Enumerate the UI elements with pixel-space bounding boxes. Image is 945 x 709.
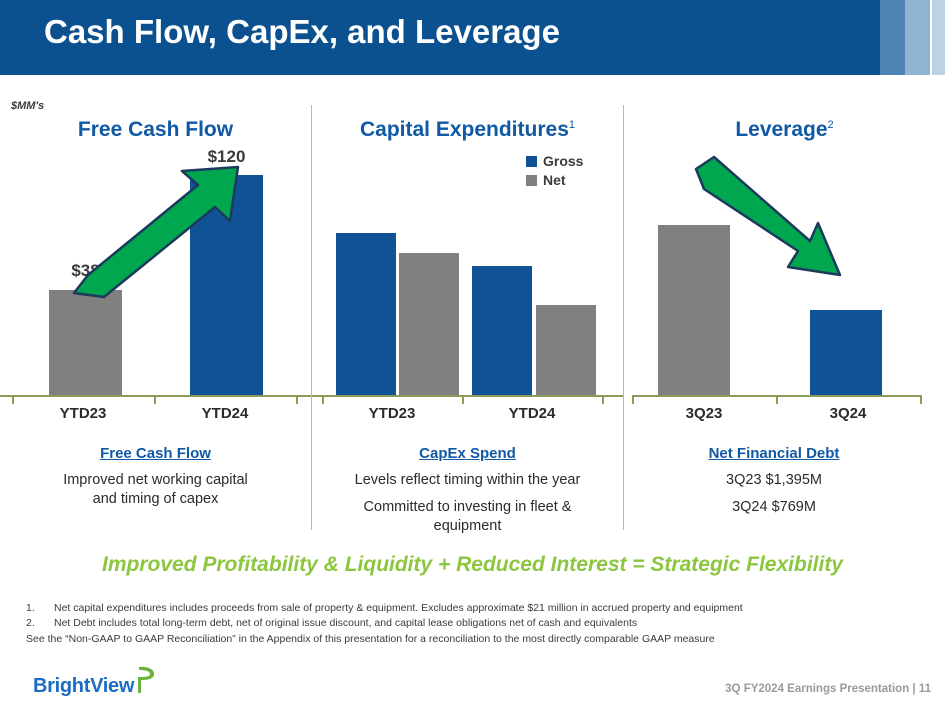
category-label: YTD24 (462, 405, 602, 422)
chart-free-cash-flow: $38 $120 (0, 155, 311, 395)
notes-free-cash-flow: Free Cash Flow Improved net working capi… (0, 445, 311, 509)
category-label: 3Q24 (776, 405, 920, 422)
panel-title-text: Capital Expenditures (360, 118, 569, 141)
legend-swatch-net-icon (526, 175, 537, 186)
notes-line: 3Q23 $1,395M (624, 471, 924, 490)
footnotes: 1. Net capital expenditures includes pro… (26, 601, 916, 647)
legend-item-net: Net (526, 172, 583, 188)
footnote-item: 2. Net Debt includes total long-term deb… (26, 616, 916, 631)
bar-ytd23-gross (336, 233, 396, 395)
footnote-number: 2. (26, 616, 54, 631)
panel-title-leverage: Leverage2 (624, 118, 945, 142)
bar-ytd23 (49, 290, 122, 395)
header-band-2 (905, 0, 930, 75)
page-footer-label: 3Q FY2024 Earnings Presentation | 11 (725, 683, 931, 695)
panel-title-text: Free Cash Flow (78, 118, 233, 141)
legend-swatch-gross-icon (526, 156, 537, 167)
x-axis-leverage (632, 395, 922, 405)
x-axis-capital-expenditures (312, 395, 623, 405)
panel-capital-expenditures: Capital Expenditures1 $58 $51 $46 $32 Gr… (312, 105, 623, 535)
notes-line: 3Q24 $769M (624, 498, 924, 517)
chart-legend: Gross Net (526, 153, 583, 191)
page-title: Cash Flow, CapEx, and Leverage (44, 13, 560, 51)
panel-title-superscript: 2 (828, 119, 834, 131)
header-band-3 (932, 0, 945, 75)
notes-heading: Free Cash Flow (0, 445, 311, 462)
logo-text: BrightView (33, 676, 134, 696)
bar-ytd23-net (399, 253, 459, 395)
x-axis-categories: YTD23 YTD24 (0, 405, 311, 429)
notes-line: Committed to investing in fleet & equipm… (312, 498, 623, 536)
slide-header: Cash Flow, CapEx, and Leverage (0, 0, 945, 75)
header-band-1 (880, 0, 905, 75)
footnote-text: Net Debt includes total long-term debt, … (54, 616, 916, 631)
legend-item-gross: Gross (526, 153, 583, 169)
notes-heading: Net Financial Debt (624, 445, 924, 462)
footnote-item: 1. Net capital expenditures includes pro… (26, 601, 916, 616)
bar-ytd24-gross (472, 266, 532, 395)
bar-3q24 (810, 310, 882, 395)
category-label: YTD24 (154, 405, 296, 422)
notes-capital-expenditures: CapEx Spend Levels reflect timing within… (312, 445, 623, 536)
notes-line: Levels reflect timing within the year (312, 471, 623, 490)
x-axis-free-cash-flow (0, 395, 311, 405)
x-axis-categories: 3Q23 3Q24 (624, 405, 945, 429)
notes-line: Improved net working capital and timing … (0, 471, 311, 509)
panel-title-superscript: 1 (569, 119, 575, 131)
leaf-logo-icon (135, 665, 157, 695)
legend-label: Net (543, 172, 566, 188)
panel-title-text: Leverage (735, 118, 827, 141)
legend-label: Gross (543, 153, 583, 169)
tagline: Improved Profitability & Liquidity + Red… (0, 553, 945, 577)
panel-leverage: Leverage2 4.8x 2.4x 3Q23 3Q24 Net Financ… (624, 105, 945, 535)
footnote-number: 1. (26, 601, 54, 616)
chart-leverage: 4.8x 2.4x (624, 155, 945, 395)
brightview-logo: BrightView (33, 665, 157, 696)
notes-leverage: Net Financial Debt 3Q23 $1,395M 3Q24 $76… (624, 445, 924, 517)
footnote-text: Net capital expenditures includes procee… (54, 601, 916, 616)
up-arrow-green-icon (70, 163, 270, 303)
category-label: YTD23 (322, 405, 462, 422)
x-axis-categories: YTD23 YTD24 (312, 405, 623, 429)
category-label: YTD23 (12, 405, 154, 422)
notes-heading: CapEx Spend (312, 445, 623, 462)
panel-free-cash-flow: Free Cash Flow $38 $120 YTD23 YTD24 Free… (0, 105, 311, 535)
down-arrow-green-icon (692, 155, 872, 295)
footnote-plain-text: See the “Non-GAAP to GAAP Reconciliation… (26, 632, 916, 647)
chart-capital-expenditures: $58 $51 $46 $32 Gross Net (312, 155, 623, 395)
panel-title-free-cash-flow: Free Cash Flow (0, 118, 311, 142)
category-label: 3Q23 (632, 405, 776, 422)
panel-title-capital-expenditures: Capital Expenditures1 (312, 118, 623, 142)
bar-ytd24-net (536, 305, 596, 395)
